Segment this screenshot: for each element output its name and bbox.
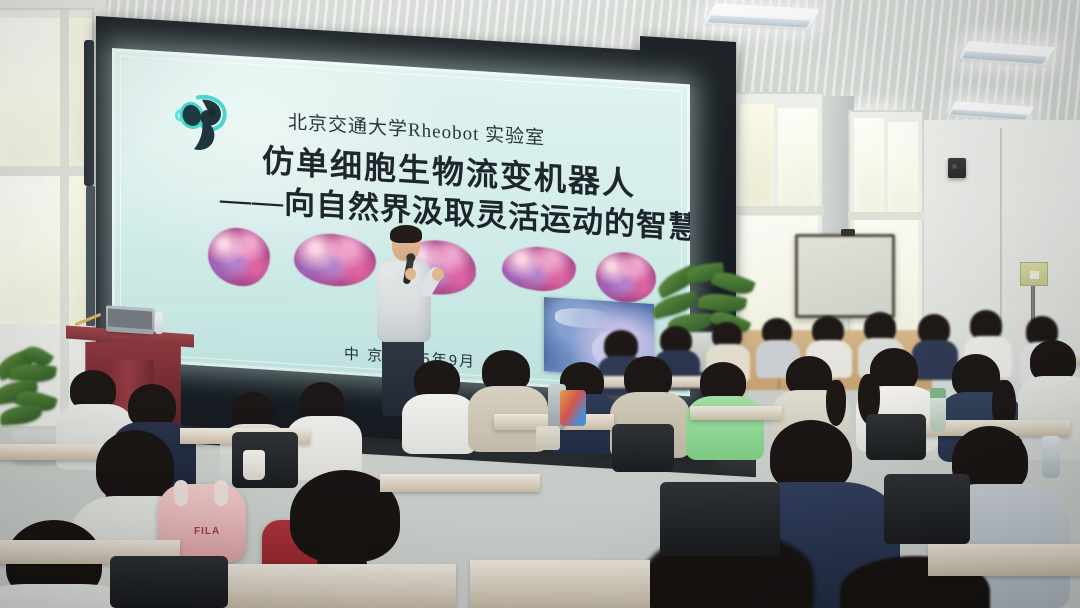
window-mullion xyxy=(0,166,94,176)
water-bottle xyxy=(1042,436,1060,478)
desk xyxy=(196,564,456,608)
bottle-cap xyxy=(930,388,946,398)
desk xyxy=(928,544,1080,576)
chair xyxy=(232,432,298,488)
cell-micrograph xyxy=(294,231,376,288)
window-pane xyxy=(778,108,818,208)
presenter-hand xyxy=(405,268,416,280)
wall-outlet-box xyxy=(1020,262,1048,286)
presenter-hair xyxy=(390,225,422,243)
window-pane xyxy=(740,104,774,208)
water-bottle xyxy=(155,312,163,334)
window-blind-edge xyxy=(86,186,95,326)
cell-micrograph xyxy=(208,226,270,288)
window-pane xyxy=(854,118,884,214)
desk xyxy=(690,406,782,420)
window-pane xyxy=(0,18,62,168)
pencil-case xyxy=(536,426,560,450)
cell-micrograph xyxy=(502,245,576,294)
cell-micrograph xyxy=(596,250,656,304)
wall-speaker-icon xyxy=(948,158,966,178)
backpack-strap xyxy=(214,480,228,506)
chair xyxy=(866,414,926,460)
backpack-brand-label: FILA xyxy=(194,526,220,537)
desk xyxy=(470,560,650,608)
paper-cup xyxy=(243,450,265,480)
water-bottle xyxy=(930,392,946,432)
presenter-hand xyxy=(432,268,444,281)
backpack-strap xyxy=(174,480,188,506)
whiteboard xyxy=(795,234,895,318)
classroom-photo-scene: 北京交通大学Rheobot 实验室 仿单细胞生物流变机器人 ——向自然界汲取灵活… xyxy=(0,0,1080,608)
window-pane xyxy=(888,122,918,216)
laptop[interactable] xyxy=(106,305,154,334)
whiteboard-clip xyxy=(841,229,855,236)
rainbow-pouch xyxy=(560,390,586,426)
rheobot-r-logo xyxy=(168,90,240,161)
chair xyxy=(660,482,780,556)
window-mullion xyxy=(848,212,924,220)
desk xyxy=(380,474,540,492)
chair xyxy=(110,556,228,608)
chair xyxy=(612,424,674,472)
window-pane xyxy=(0,176,62,324)
window-blind-edge xyxy=(84,40,94,186)
chair xyxy=(884,474,970,544)
